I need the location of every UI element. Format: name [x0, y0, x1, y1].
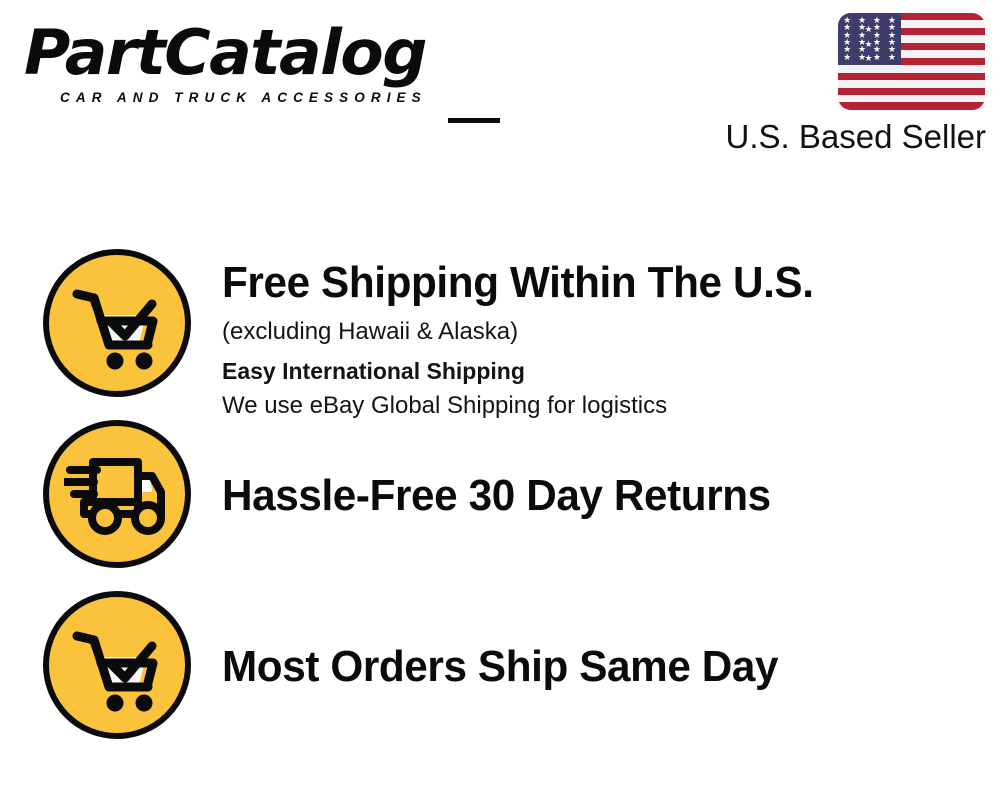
brand-logo[interactable]: PartCatalog CAR AND TRUCK ACCESSORIES [24, 18, 494, 105]
feature-list: Free Shipping Within The U.S. (excluding… [0, 175, 1000, 800]
feature-row: Most Orders Ship Same Day [0, 591, 1000, 762]
delivery-truck-icon [43, 420, 191, 568]
brand-wordmark: PartCatalog [24, 18, 503, 88]
feature-text-block: Free Shipping Within The U.S. (excluding… [222, 249, 962, 422]
feature-text-block: Hassle-Free 30 Day Returns [222, 420, 962, 522]
flag-star-row: ★ ★ ★ ★ [838, 54, 901, 63]
feature-subtitle-secondary: We use eBay Global Shipping for logistic… [222, 388, 962, 422]
header-bar: PartCatalog CAR AND TRUCK ACCESSORIES ★ … [0, 0, 1000, 175]
feature-title: Free Shipping Within The U.S. [222, 249, 932, 309]
us-flag-icon: ★ ★ ★ ★ ★ ★ ★ ★ ★ ★ ★ ★ ★ ★ ★ ★ ★ ★ ★ ★ … [838, 13, 985, 110]
feature-subtitle-bold: Easy International Shipping [222, 348, 962, 388]
feature-title: Most Orders Ship Same Day [222, 591, 932, 693]
feature-text-block: Most Orders Ship Same Day [222, 591, 962, 693]
shopping-cart-check-icon [43, 591, 191, 739]
feature-row: Free Shipping Within The U.S. (excluding… [0, 249, 1000, 420]
brand-tagline: CAR AND TRUCK ACCESSORIES [60, 90, 494, 105]
feature-subtitle: (excluding Hawaii & Alaska) [222, 309, 962, 348]
seller-location-label: U.S. Based Seller [722, 118, 986, 156]
us-flag-canton-icon: ★ ★ ★ ★ ★ ★ ★ ★ ★ ★ ★ ★ ★ ★ ★ ★ ★ ★ ★ ★ … [838, 13, 901, 65]
brand-underline-rule [448, 118, 500, 123]
feature-row: Hassle-Free 30 Day Returns [0, 420, 1000, 591]
feature-title: Hassle-Free 30 Day Returns [222, 420, 932, 522]
shopping-cart-check-icon [43, 249, 191, 397]
